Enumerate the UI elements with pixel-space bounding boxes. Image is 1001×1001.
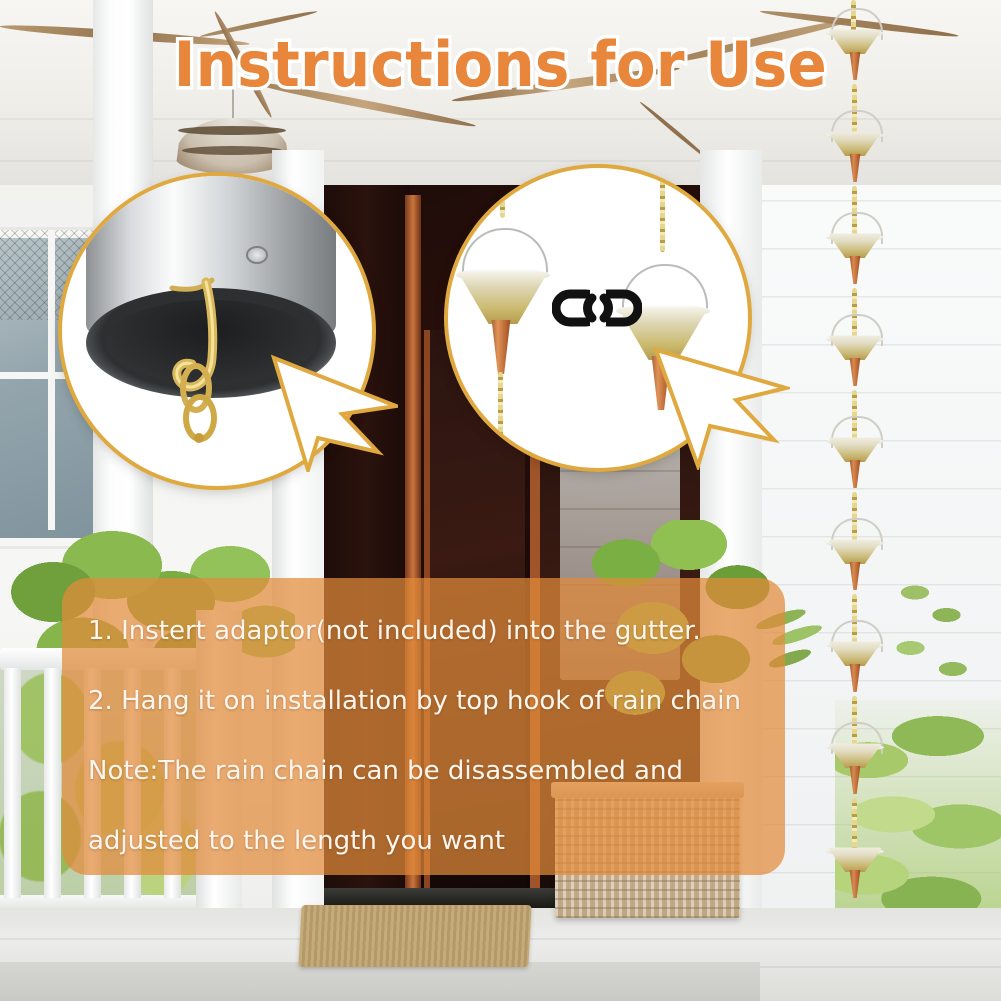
sprig [888, 570, 978, 720]
cup-spout [848, 870, 862, 898]
right-callout-tail [650, 340, 790, 470]
cup-bowl [828, 538, 882, 564]
cup-bowl [828, 846, 882, 872]
chain-link-segment [500, 168, 505, 218]
rain-chain-cup [828, 640, 882, 700]
baluster [4, 668, 21, 898]
screw [246, 246, 268, 264]
siding-line [760, 296, 1001, 299]
chain-link-segment [852, 798, 857, 850]
cup-spout [848, 562, 862, 590]
rain-chain-cup [828, 436, 882, 496]
cup-bowl [828, 130, 882, 156]
left-callout-tail [268, 352, 398, 472]
cup-spout [848, 460, 862, 488]
rain-chain-cup [828, 334, 882, 394]
cup-spout [848, 664, 862, 692]
cup-spout [848, 154, 862, 182]
cup-bowl [828, 742, 882, 768]
instruction-note-line-1: Note:The rain chain can be disassembled … [88, 758, 785, 784]
lamp-band [178, 126, 286, 135]
curtain-fold [560, 508, 680, 510]
cup-spout [848, 766, 862, 794]
cup-bowl [458, 272, 548, 324]
chain-link-segment [660, 180, 665, 252]
rain-chain-cup [828, 846, 882, 906]
rain-chain-cup [828, 232, 882, 292]
instruction-image: Instructions for Use Instructions for Us… [0, 0, 1001, 1001]
instruction-line-1: 1. Instert adaptor(not included) into th… [88, 618, 785, 644]
instruction-note-line-2: adjusted to the length you want [88, 828, 785, 854]
cup-bowl [828, 640, 882, 666]
curtain-fold [560, 470, 680, 472]
cup-spout [488, 320, 514, 374]
porch-step [0, 962, 760, 1001]
chain-link-icon [552, 278, 642, 338]
rain-chain-cup [828, 742, 882, 802]
gold-hook-icon [154, 266, 284, 466]
door-mat [298, 905, 531, 967]
rain-chain-cup [828, 130, 882, 190]
page-title: Instructions for Use [35, 28, 966, 101]
cup-bowl [828, 334, 882, 360]
baluster [44, 668, 61, 898]
cup-spout [848, 256, 862, 284]
cup-spout [848, 358, 862, 386]
chain-link-segment [498, 372, 503, 438]
instruction-line-2: 2. Hang it on installation by top hook o… [88, 688, 785, 714]
rain-chain-cup [828, 538, 882, 598]
instructions-panel: 1. Instert adaptor(not included) into th… [62, 578, 785, 875]
siding-line [760, 200, 1001, 203]
cup-bowl [828, 232, 882, 258]
window-mullion [48, 230, 55, 530]
cup-bowl [828, 436, 882, 462]
lamp-band [182, 146, 282, 155]
